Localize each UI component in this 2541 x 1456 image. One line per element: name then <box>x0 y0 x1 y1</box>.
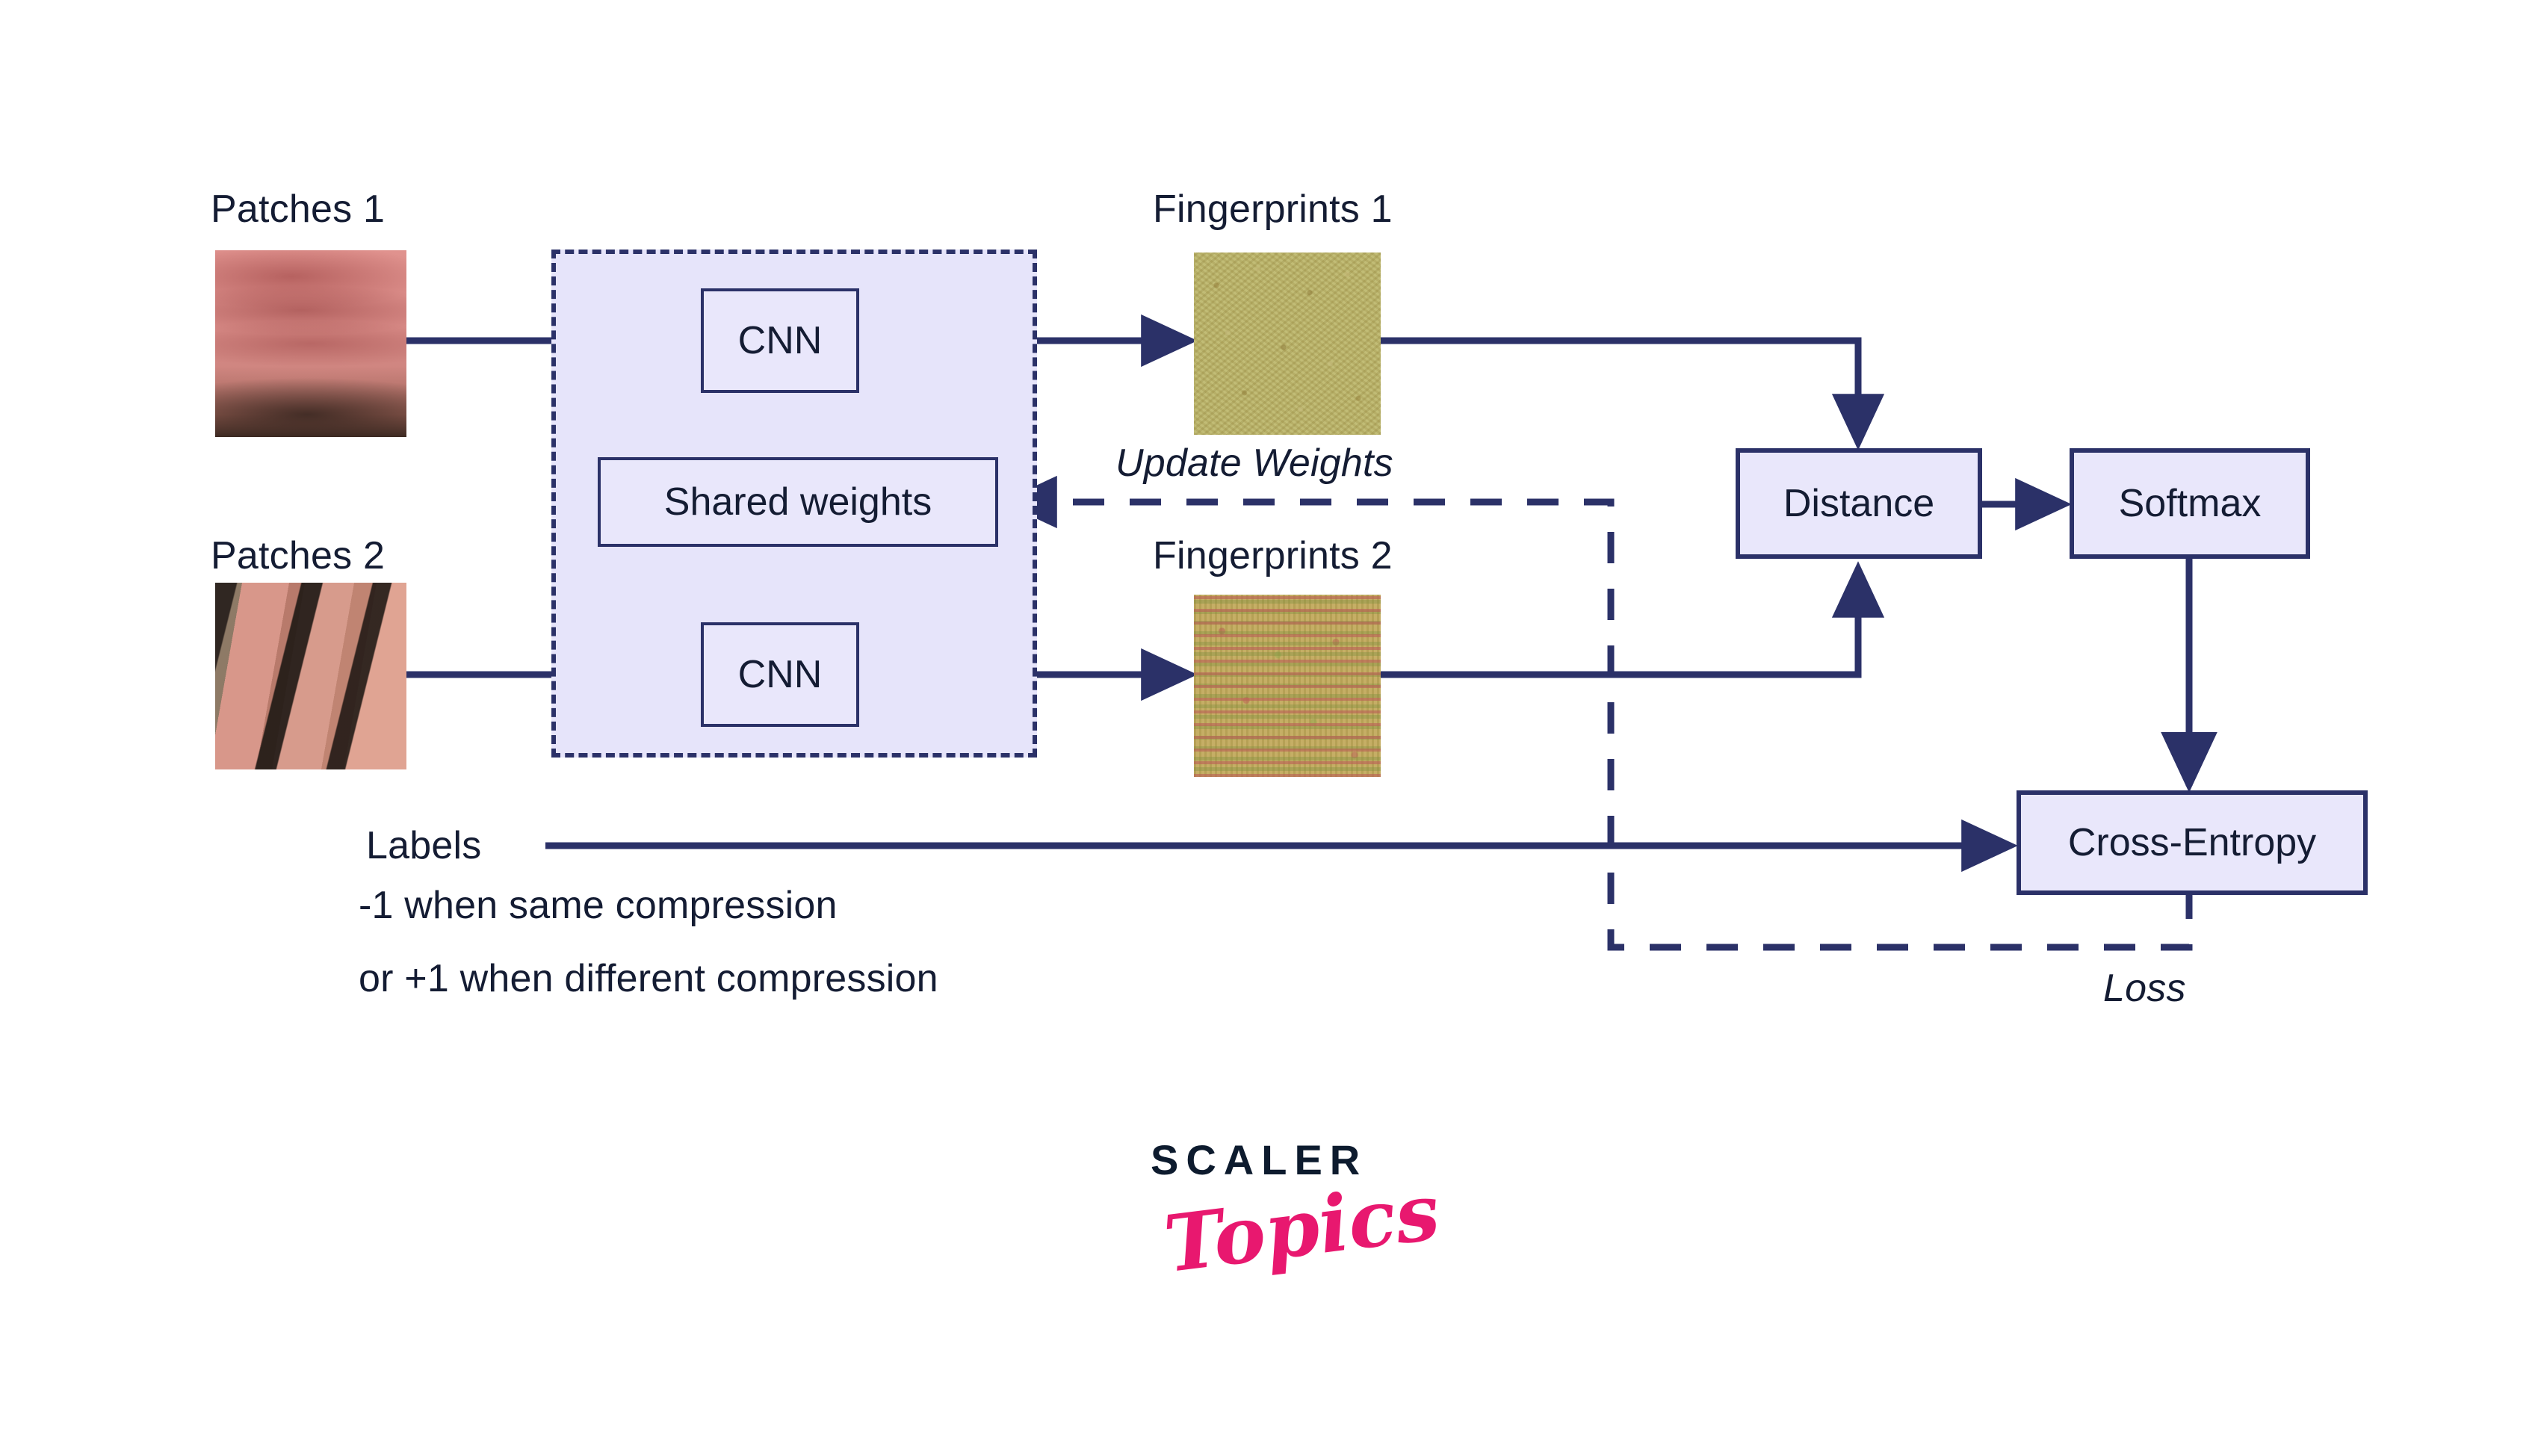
cross-entropy-box[interactable]: Cross-Entropy <box>2017 790 2368 895</box>
labels-line-2: or +1 when different compression <box>359 956 938 1001</box>
shared-weights-label: Shared weights <box>664 480 932 524</box>
cnn-bottom-label: CNN <box>738 652 823 697</box>
softmax-label: Softmax <box>2119 481 2262 526</box>
cnn-top-label: CNN <box>738 318 823 363</box>
distance-label: Distance <box>1783 481 1934 526</box>
wire-fp1-to-distance <box>1380 341 1858 442</box>
cnn-bottom-box[interactable]: CNN <box>701 622 859 727</box>
fingerprints-2-image <box>1194 595 1381 777</box>
update-weights-label: Update Weights <box>1115 441 1393 486</box>
labels-title: Labels <box>366 823 481 868</box>
cnn-top-box[interactable]: CNN <box>701 288 859 393</box>
fingerprints-2-label: Fingerprints 2 <box>1153 533 1393 578</box>
scaler-topics-logo: SCALER Topics <box>1151 1136 1405 1322</box>
patches-1-label: Patches 1 <box>211 187 385 232</box>
distance-box[interactable]: Distance <box>1736 448 1982 559</box>
diagram-canvas: CNN CNN Shared weights Distance Softmax … <box>0 0 2541 1456</box>
loss-label: Loss <box>2103 966 2186 1011</box>
fingerprints-1-label: Fingerprints 1 <box>1153 187 1393 232</box>
wire-fp2-to-distance <box>1380 569 1858 675</box>
patches-1-image <box>215 250 406 437</box>
labels-line-1: -1 when same compression <box>359 883 838 928</box>
cross-entropy-label: Cross-Entropy <box>2068 820 2316 865</box>
softmax-box[interactable]: Softmax <box>2070 448 2310 559</box>
patches-2-image <box>215 583 406 769</box>
fingerprints-1-image <box>1194 253 1381 435</box>
logo-topics-text: Topics <box>1160 1165 1444 1290</box>
patches-2-label: Patches 2 <box>211 533 385 578</box>
shared-weights-box[interactable]: Shared weights <box>598 457 998 547</box>
